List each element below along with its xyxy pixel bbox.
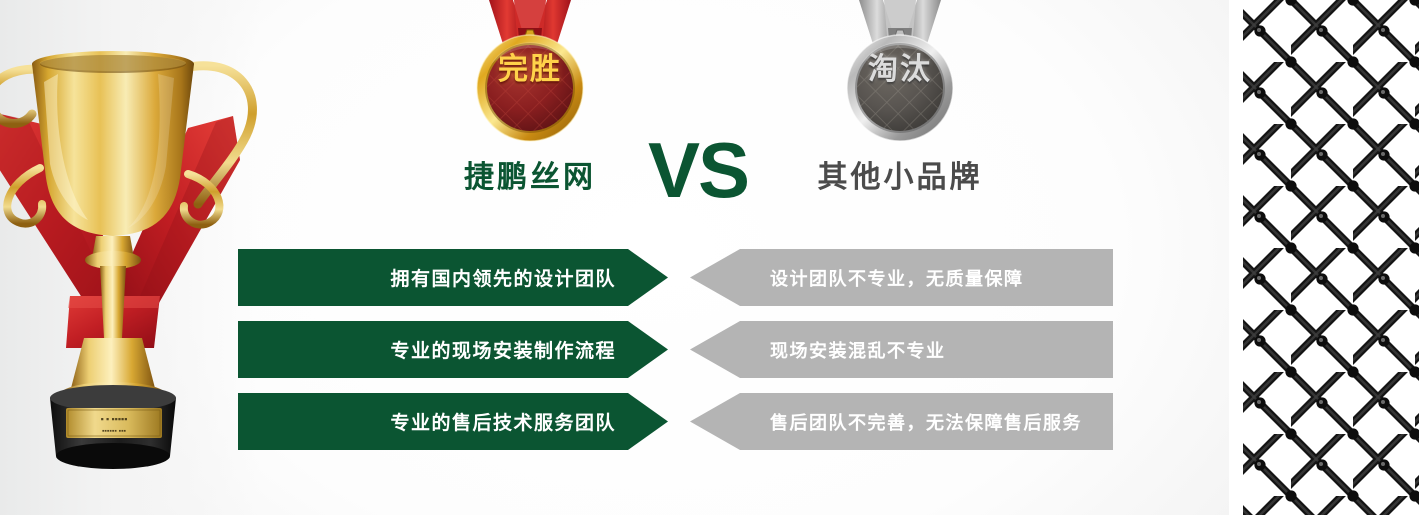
svg-text:▪▪▪▪▪▪ ▪▪▪: ▪▪▪▪▪▪ ▪▪▪ [102,427,127,435]
chain-link-fence-image [1229,0,1419,515]
comparison-row: 专业的售后技术服务团队 售后团队不完善，无法保障售后服务 [238,393,1118,450]
pro-text-1: 拥有国内领先的设计团队 [390,264,668,291]
comparison-row: 拥有国内领先的设计团队 设计团队不专业，无质量保障 [238,249,1118,306]
con-text-2: 现场安装混乱不专业 [690,337,946,363]
con-arrow-1: 设计团队不专业，无质量保障 [690,249,1113,306]
comparison-rows: 拥有国内领先的设计团队 设计团队不专业，无质量保障 专业的现场安装制作流程 现场… [238,249,1118,450]
comparison-banner: ▪ ▪ ▪▪▪▪▪ ▪▪▪▪▪▪ ▪▪▪ [0,0,1419,515]
con-text-3: 售后团队不完善，无法保障售后服务 [690,409,1082,435]
con-arrow-3: 售后团队不完善，无法保障售后服务 [690,393,1113,450]
pro-text-2: 专业的现场安装制作流程 [390,336,668,363]
svg-text:▪ ▪ ▪▪▪▪▪: ▪ ▪ ▪▪▪▪▪ [101,414,128,424]
con-text-1: 设计团队不专业，无质量保障 [690,265,1024,291]
pro-arrow-3: 专业的售后技术服务团队 [238,393,668,450]
brand-name-other: 其他小品牌 [785,152,1015,196]
trophy-stem [100,266,126,338]
pro-arrow-2: 专业的现场安装制作流程 [238,321,668,378]
comparison-row: 专业的现场安装制作流程 现场安装混乱不专业 [238,321,1118,378]
pro-text-3: 专业的售后技术服务团队 [390,408,668,435]
side-other: 淘汰 其他小品牌 [785,0,1015,205]
side-ours: 完胜 捷鹏丝网 [415,0,645,205]
brand-name-ours: 捷鹏丝网 [415,152,645,196]
pro-arrow-1: 拥有国内领先的设计团队 [238,249,668,306]
versus-label: VS [648,131,748,209]
con-arrow-2: 现场安装混乱不专业 [690,321,1113,378]
